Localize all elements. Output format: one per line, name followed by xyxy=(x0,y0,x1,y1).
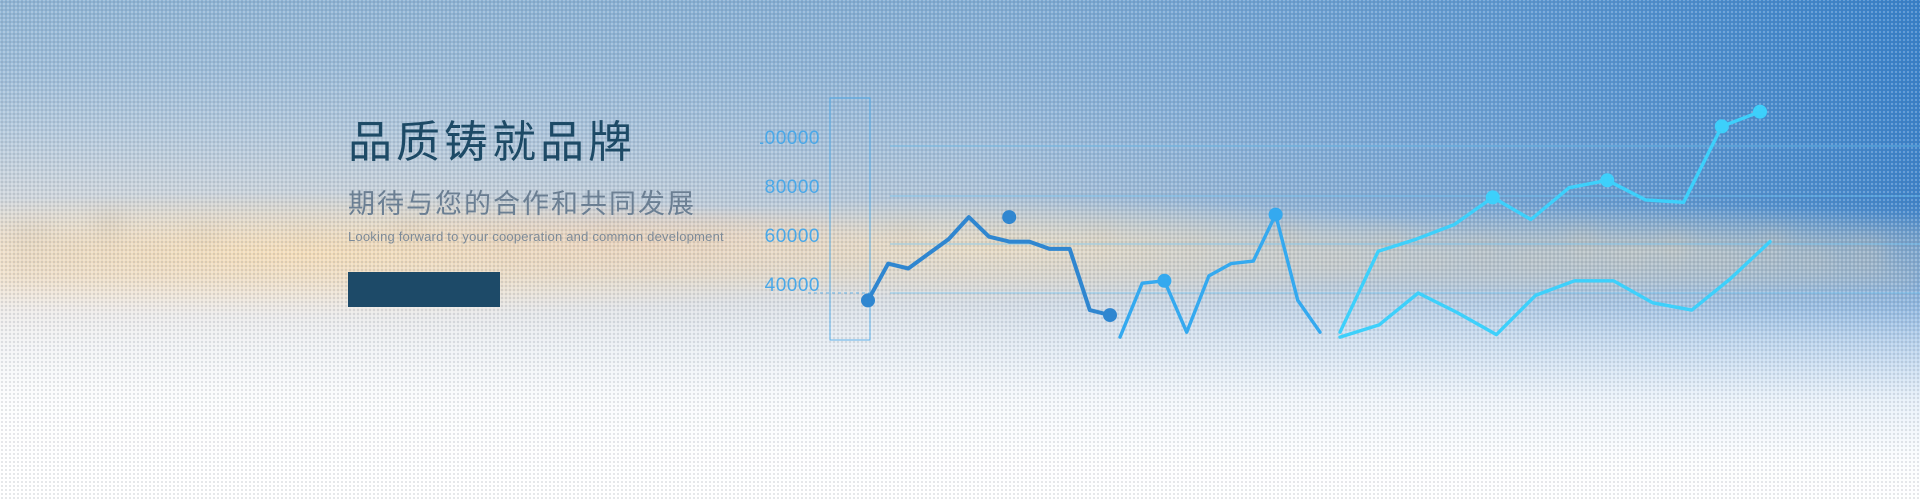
hero-banner: 100000 80000 60000 40000 品质铸就品牌 期待与您的合作和… xyxy=(0,0,1920,500)
hero-subtitle-en: Looking forward to your cooperation and … xyxy=(348,229,768,245)
page-title: 品质铸就品牌 xyxy=(348,120,768,166)
chart-line-series-1 xyxy=(868,217,1110,315)
chart-marker-dot xyxy=(1002,210,1016,224)
chart-marker-dot xyxy=(1753,105,1767,119)
line-chart: 100000 80000 60000 40000 xyxy=(760,0,1920,500)
chart-marker-dot xyxy=(1600,173,1614,187)
chart-marker-dot xyxy=(1269,208,1283,222)
chart-marker-dot xyxy=(1157,274,1171,288)
hero-subtitle-cn: 期待与您的合作和共同发展 xyxy=(348,190,768,220)
hero-copy-block: 品质铸就品牌 期待与您的合作和共同发展 Looking forward to y… xyxy=(348,120,768,307)
chart-line-series-3 xyxy=(1340,112,1760,333)
chart-marker-dot xyxy=(1103,308,1117,322)
chart-series-layer xyxy=(760,0,1920,500)
cta-button[interactable] xyxy=(348,272,500,307)
chart-marker-dot xyxy=(1715,119,1729,133)
chart-line-series-2 xyxy=(1120,215,1320,338)
chart-line-series-4 xyxy=(1340,242,1770,338)
chart-marker-dot xyxy=(1486,190,1500,204)
chart-marker-dot xyxy=(861,293,875,307)
